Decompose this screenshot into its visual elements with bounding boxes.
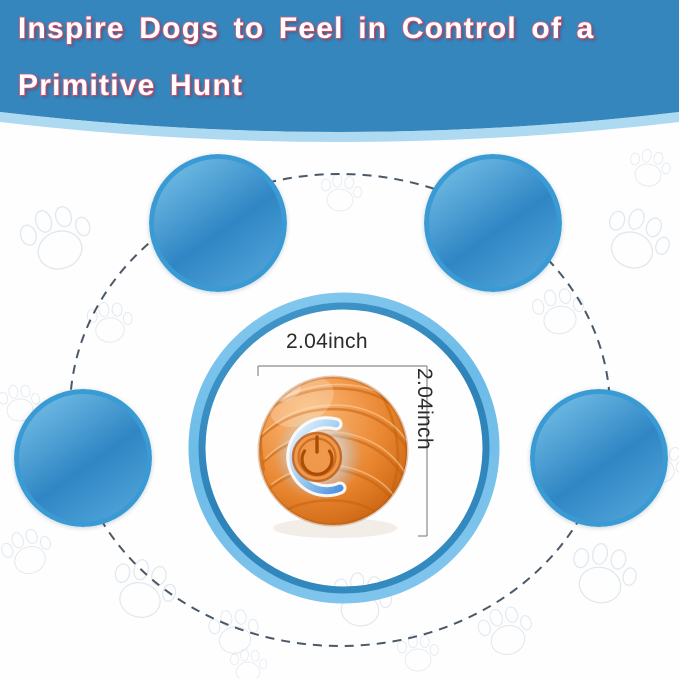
- power-button-icon: [293, 433, 341, 481]
- photo-retriever-with-orange-ball[interactable]: [530, 389, 668, 527]
- photo-image-teeth: [19, 394, 147, 522]
- photo-image-terrier: [429, 159, 557, 287]
- dimension-label-height: 2.04inch: [412, 368, 436, 450]
- photo-terrier-playing-with-ball[interactable]: [424, 154, 562, 292]
- dimension-label-width: 2.04inch: [286, 330, 368, 354]
- header-title-block: Inspire Dogs to Feel in Control of a Pri…: [0, 0, 679, 140]
- page-title-line-2: Primitive Hunt: [18, 71, 661, 101]
- photo-dachshund-puppy-with-ball[interactable]: [149, 154, 287, 292]
- photo-image-retriever: [535, 394, 663, 522]
- product-dimension-diagram: 2.04inch 2.04inch: [240, 330, 480, 566]
- product-infographic: Inspire Dogs to Feel in Control of a Pri…: [0, 0, 679, 679]
- ball-illustration: [240, 330, 480, 566]
- photo-dog-teeth-closeup[interactable]: [14, 389, 152, 527]
- page-title-line-1: Inspire Dogs to Feel in Control of a: [18, 14, 661, 44]
- photo-image-dachshund: [154, 159, 282, 287]
